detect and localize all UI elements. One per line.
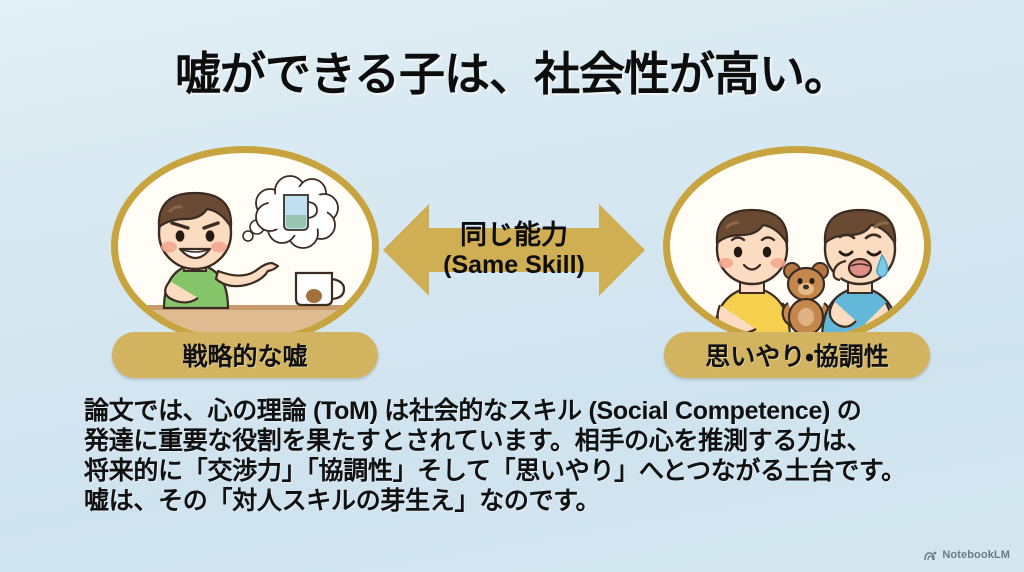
panel-left-strategic-lie: 戦略的な嘘 xyxy=(111,146,379,346)
illustration-circle-left xyxy=(111,146,379,346)
boy-pointing-at-cup-with-thought-bubble-icon xyxy=(118,153,379,346)
watermark-label: NotebookLM xyxy=(942,549,1010,561)
body-line-3: 将来的に「交渉力」「協調性」そして「思いやり」へとつながる土台です。 xyxy=(84,456,964,486)
body-line-2: 発達に重要な役割を果たすとされています。相手の心を推測する力は、 xyxy=(84,426,964,456)
panel-left-label: 戦略的な嘘 xyxy=(182,337,307,373)
page-title: 嘘ができる子は、社会性が高い。 xyxy=(0,38,1024,104)
slide-canvas: 嘘ができる子は、社会性が高い。 xyxy=(0,0,1024,572)
notebooklm-logo-icon xyxy=(924,550,937,561)
panel-right-label-pill: 思いやり・協調性 xyxy=(664,332,930,378)
panel-left-label-pill: 戦略的な嘘 xyxy=(112,332,378,378)
body-line-1: 論文では、心の理論 (ToM) は社会的なスキル (Social Compete… xyxy=(84,396,964,426)
double-headed-arrow-icon xyxy=(383,192,645,308)
body-line-4: 嘘は、その「対人スキルの芽生え」なのです。 xyxy=(84,486,964,516)
body-paragraph: 論文では、心の理論 (ToM) は社会的なスキル (Social Compete… xyxy=(84,396,964,516)
illustration-circle-right xyxy=(663,146,931,346)
panel-right-label: 思いやり・協調性 xyxy=(705,337,889,373)
boy-offering-teddy-bear-to-crying-boy-icon xyxy=(670,153,931,346)
watermark: NotebookLM xyxy=(924,549,1010,561)
center-arrow: 同じ能力 (Same Skill) xyxy=(383,192,645,308)
panel-right-empathy: 思いやり・協調性 xyxy=(663,146,931,346)
